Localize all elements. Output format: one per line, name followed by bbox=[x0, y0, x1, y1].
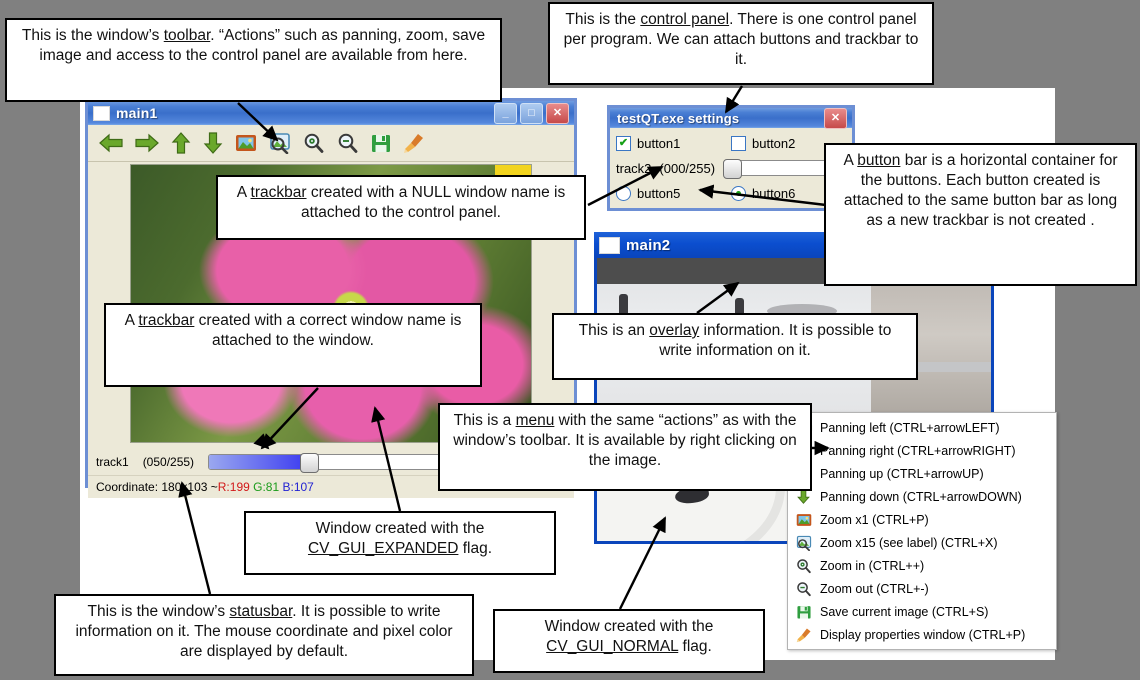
menu-item-panning-up[interactable]: Panning up (CTRL+arrowUP) bbox=[788, 462, 1056, 485]
main1-window-buttons: _ □ ✕ bbox=[494, 103, 571, 124]
checkbox-button2-label: button2 bbox=[752, 136, 795, 151]
radio-button5-label: button5 bbox=[637, 186, 680, 201]
callout-trackbar-window-part1: A bbox=[125, 312, 139, 329]
radio-icon[interactable] bbox=[731, 186, 746, 201]
callout-trackbar-null-part1: A bbox=[237, 184, 251, 201]
callout-normal-part1: Window created with the bbox=[545, 618, 714, 635]
radio-icon[interactable] bbox=[616, 186, 631, 201]
slider-fill bbox=[209, 455, 307, 469]
control-panel-trackbar[interactable]: track2 (000/255) bbox=[616, 155, 846, 181]
main1-trackbar-value: (050/255) bbox=[143, 455, 194, 469]
menu-item-label: Zoom in (CTRL++) bbox=[820, 559, 924, 573]
callout-expanded-highlight: CV_GUI_EXPANDED bbox=[308, 540, 458, 557]
callout-overlay-part1: This is an bbox=[579, 322, 650, 339]
zoom-x1-icon[interactable] bbox=[234, 132, 258, 154]
main1-titlebar[interactable]: main1 _ □ ✕ bbox=[88, 101, 574, 125]
menu-item-label: Panning right (CTRL+arrowRIGHT) bbox=[820, 444, 1016, 458]
window-icon bbox=[599, 237, 620, 254]
callout-menu-part1: This is a bbox=[454, 412, 516, 429]
callout-statusbar-highlight: statusbar bbox=[229, 603, 292, 620]
pan-down-icon[interactable] bbox=[202, 131, 224, 155]
control-panel-checkbox-row: ✔ button1 button2 bbox=[616, 131, 846, 155]
menu-item-label: Panning up (CTRL+arrowUP) bbox=[820, 467, 984, 481]
zoom-x1-icon bbox=[794, 511, 813, 529]
menu-item-label: Zoom out (CTRL+-) bbox=[820, 582, 929, 596]
slider-knob[interactable] bbox=[723, 159, 742, 179]
menu-item-label: Panning down (CTRL+arrowDOWN) bbox=[820, 490, 1022, 504]
menu-item-label: Save current image (CTRL+S) bbox=[820, 605, 988, 619]
callout-toolbar: This is the window’s toolbar. “Actions” … bbox=[5, 18, 502, 102]
control-panel-titlebar[interactable]: testQT.exe settings ✕ bbox=[610, 108, 852, 128]
menu-item-display-properties-window[interactable]: Display properties window (CTRL+P) bbox=[788, 623, 1056, 646]
menu-item-label: Panning left (CTRL+arrowLEFT) bbox=[820, 421, 1000, 435]
menu-item-label: Zoom x15 (see label) (CTRL+X) bbox=[820, 536, 998, 550]
callout-control-panel-highlight: control panel bbox=[640, 11, 729, 28]
callout-expanded-flag: Window created with the CV_GUI_EXPANDED … bbox=[244, 511, 556, 575]
zoom-out-icon bbox=[794, 580, 813, 598]
checkbox-icon[interactable]: ✔ bbox=[616, 136, 631, 151]
callout-button-bar-part1: A bbox=[843, 152, 857, 169]
pan-up-icon[interactable] bbox=[170, 131, 192, 155]
checkbox-button1-label: button1 bbox=[637, 136, 680, 151]
callout-toolbar-part1: This is the window’s bbox=[22, 27, 164, 44]
statusbar-red: R:199 bbox=[218, 480, 250, 494]
menu-item-panning-down[interactable]: Panning down (CTRL+arrowDOWN) bbox=[788, 485, 1056, 508]
menu-item-zoom-in[interactable]: Zoom in (CTRL++) bbox=[788, 554, 1056, 577]
callout-statusbar-part1: This is the window’s bbox=[88, 603, 230, 620]
callout-toolbar-highlight: toolbar bbox=[164, 27, 211, 44]
window-icon bbox=[93, 106, 110, 121]
control-panel-body: ✔ button1 button2 track2 (000/255) bbox=[610, 128, 852, 205]
callout-button-bar: A button bar is a horizontal container f… bbox=[824, 143, 1137, 286]
maximize-button[interactable]: □ bbox=[520, 103, 543, 124]
callout-control-panel: This is the control panel. There is one … bbox=[548, 2, 934, 85]
save-icon[interactable] bbox=[370, 132, 392, 154]
properties-icon bbox=[794, 626, 813, 644]
control-panel-trackbar-slider[interactable] bbox=[723, 160, 836, 176]
control-panel-trackbar-label: track2 bbox=[616, 161, 651, 176]
callout-menu-highlight: menu bbox=[516, 412, 555, 429]
screenshot-root: main1 _ □ ✕ bbox=[0, 0, 1140, 680]
properties-icon[interactable] bbox=[402, 132, 426, 154]
callout-trackbar-window-highlight: trackbar bbox=[138, 312, 194, 329]
menu-item-label: Zoom x1 (CTRL+P) bbox=[820, 513, 929, 527]
callout-overlay: This is an overlay information. It is po… bbox=[552, 313, 918, 380]
main1-toolbar[interactable] bbox=[88, 125, 574, 162]
callout-trackbar-null-highlight: trackbar bbox=[251, 184, 307, 201]
zoom-x15-icon bbox=[794, 534, 813, 552]
callout-statusbar: This is the window’s statusbar. It is po… bbox=[54, 594, 474, 676]
callout-expanded-part1: Window created with the bbox=[316, 520, 485, 537]
pan-left-icon[interactable] bbox=[98, 132, 124, 154]
callout-trackbar-window: A trackbar created with a correct window… bbox=[104, 303, 482, 387]
minimize-button[interactable]: _ bbox=[494, 103, 517, 124]
statusbar-coordinate: Coordinate: 180x103 ~ bbox=[96, 480, 218, 494]
callout-trackbar-null: A trackbar created with a NULL window na… bbox=[216, 175, 586, 240]
zoom-x15-icon[interactable] bbox=[268, 132, 292, 154]
callout-control-panel-part1: This is the bbox=[565, 11, 640, 28]
control-panel-title: testQT.exe settings bbox=[617, 111, 818, 126]
statusbar-blue: B:107 bbox=[283, 480, 314, 494]
close-button[interactable]: ✕ bbox=[824, 108, 847, 129]
control-panel-window-buttons: ✕ bbox=[824, 108, 849, 129]
control-panel-trackbar-value: (000/255) bbox=[659, 161, 715, 176]
callout-button-bar-highlight: button bbox=[857, 152, 900, 169]
save-icon bbox=[794, 603, 813, 621]
menu-item-zoom-out[interactable]: Zoom out (CTRL+-) bbox=[788, 577, 1056, 600]
callout-normal-flag: Window created with the CV_GUI_NORMAL fl… bbox=[493, 609, 765, 673]
callout-trackbar-null-part3: created with a NULL window name is attac… bbox=[301, 184, 565, 221]
menu-item-panning-right[interactable]: Panning right (CTRL+arrowRIGHT) bbox=[788, 439, 1056, 462]
control-panel-radio-row: button5 button6 bbox=[616, 181, 846, 205]
main1-trackbar-label: track1 bbox=[96, 455, 129, 469]
zoom-in-icon[interactable] bbox=[302, 132, 326, 154]
zoom-in-icon bbox=[794, 557, 813, 575]
pan-right-icon[interactable] bbox=[134, 132, 160, 154]
callout-trackbar-window-part3: created with a correct window name is at… bbox=[194, 312, 461, 349]
menu-item-zoom-x1[interactable]: Zoom x1 (CTRL+P) bbox=[788, 508, 1056, 531]
menu-item-zoom-x15[interactable]: Zoom x15 (see label) (CTRL+X) bbox=[788, 531, 1056, 554]
callout-expanded-part3: flag. bbox=[458, 540, 492, 557]
callout-overlay-highlight: overlay bbox=[649, 322, 699, 339]
callout-normal-highlight: CV_GUI_NORMAL bbox=[546, 638, 678, 655]
slider-knob[interactable] bbox=[300, 453, 319, 473]
context-menu[interactable]: Panning left (CTRL+arrowLEFT) Panning ri… bbox=[787, 412, 1057, 650]
menu-item-label: Display properties window (CTRL+P) bbox=[820, 628, 1025, 642]
callout-menu: This is a menu with the same “actions” a… bbox=[438, 403, 812, 491]
statusbar-green: G:81 bbox=[253, 480, 279, 494]
menu-item-save-current-image[interactable]: Save current image (CTRL+S) bbox=[788, 600, 1056, 623]
main1-title: main1 bbox=[116, 105, 488, 121]
checkbox-icon[interactable] bbox=[731, 136, 746, 151]
radio-button6-label: button6 bbox=[752, 186, 795, 201]
close-button[interactable]: ✕ bbox=[546, 103, 569, 124]
zoom-out-icon[interactable] bbox=[336, 132, 360, 154]
callout-normal-part3: flag. bbox=[678, 638, 712, 655]
control-panel-window[interactable]: testQT.exe settings ✕ ✔ button1 button2 … bbox=[607, 105, 855, 211]
checkbox-button1[interactable]: ✔ button1 bbox=[616, 136, 731, 151]
menu-item-panning-left[interactable]: Panning left (CTRL+arrowLEFT) bbox=[788, 416, 1056, 439]
radio-button5[interactable]: button5 bbox=[616, 186, 731, 201]
